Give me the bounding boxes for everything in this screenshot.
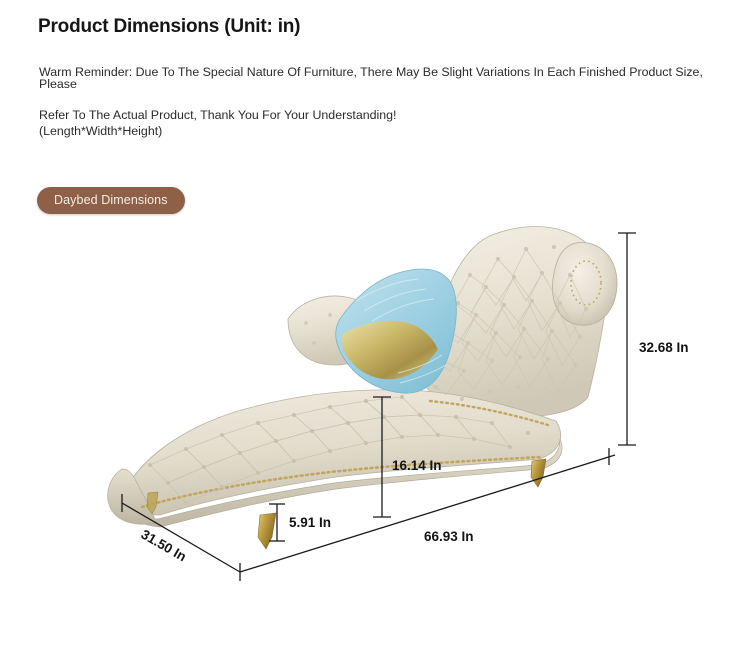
- daybed-roll-arm: [552, 242, 617, 325]
- page-title: Product Dimensions (Unit: in): [38, 16, 300, 38]
- daybed-seat-deck: [122, 390, 561, 515]
- dimension-diagram: 32.68 In 66.93 In 31.50 In 16.14 In 5.91…: [0, 215, 750, 615]
- depth-label: 31.50 In: [139, 527, 189, 565]
- reminder-line-3: (Length*Width*Height): [39, 125, 729, 137]
- overall-height-label: 32.68 In: [639, 340, 689, 355]
- daybed-dimensions-badge: Daybed Dimensions: [37, 187, 185, 214]
- leg-height-label: 5.91 In: [289, 515, 331, 530]
- length-label: 66.93 In: [424, 529, 474, 544]
- daybed-leg-front: [258, 513, 276, 549]
- accent-pillow: [336, 269, 457, 393]
- daybed-leg-right: [531, 459, 546, 487]
- daybed-illustration: [108, 227, 617, 549]
- warm-reminder-text: Warm Reminder: Due To The Special Nature…: [39, 66, 729, 138]
- daybed-dimension-illustration: 32.68 In 66.93 In 31.50 In 16.14 In 5.91…: [0, 215, 750, 615]
- seat-height-label: 16.14 In: [392, 458, 442, 473]
- reminder-line-2: Refer To The Actual Product, Thank You F…: [39, 109, 729, 121]
- overall-height-dimension-line: [618, 233, 636, 445]
- reminder-line-1: Warm Reminder: Due To The Special Nature…: [39, 66, 729, 91]
